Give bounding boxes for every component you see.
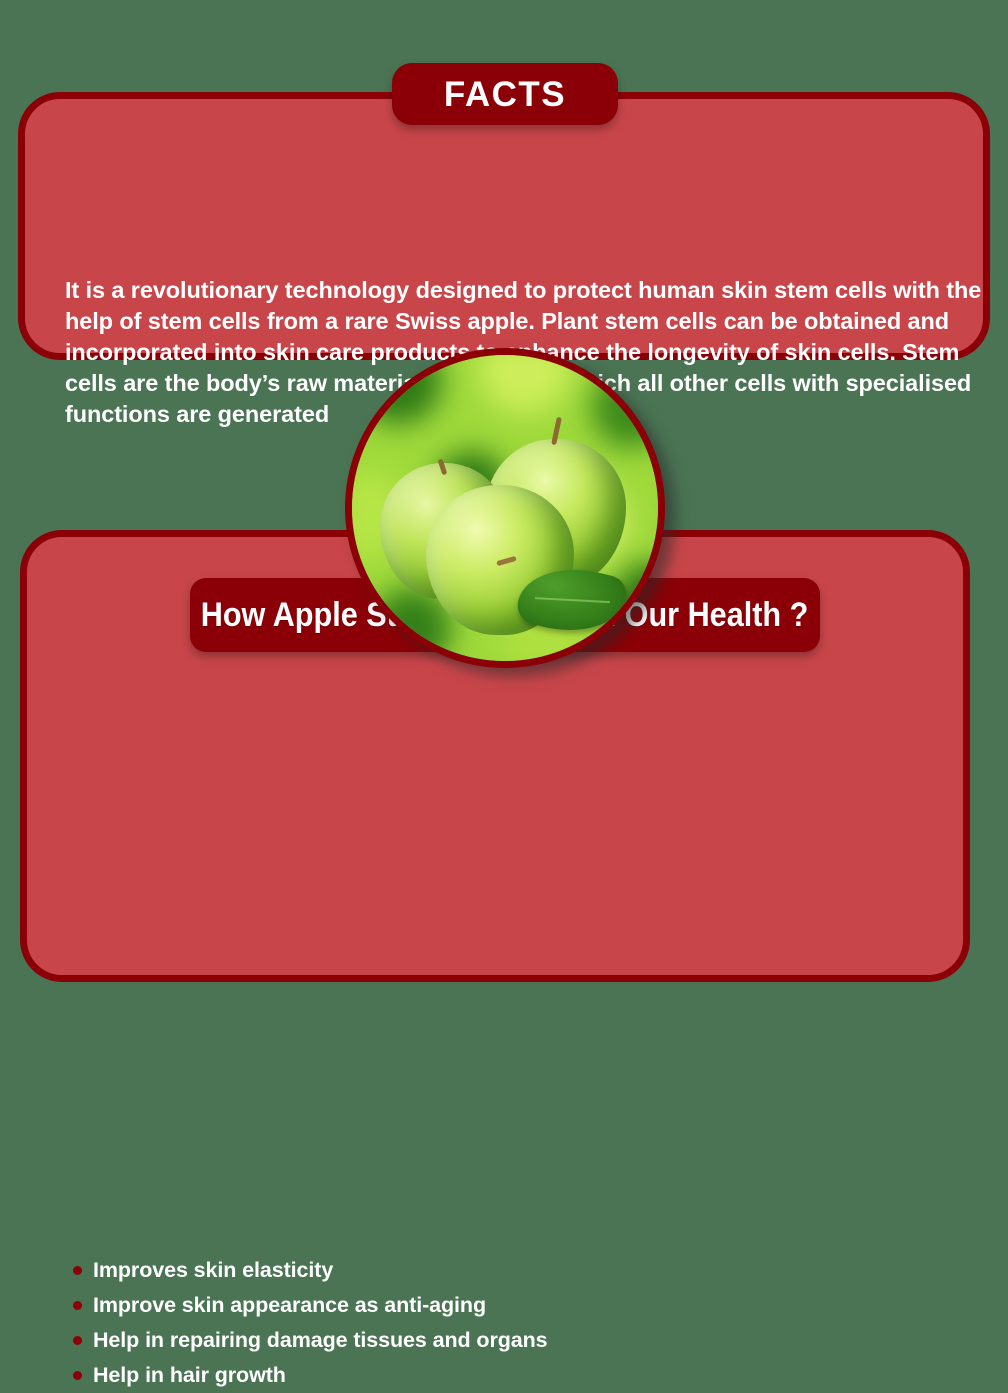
facts-card: It is a revolutionary technology designe… <box>18 92 990 360</box>
benefit-label: Help in hair growth <box>93 1363 286 1388</box>
list-item: Improve skin appearance as anti-aging <box>73 1288 773 1323</box>
facts-ribbon-label: FACTS <box>444 77 566 112</box>
list-item: Improves skin elasticity <box>73 1253 773 1288</box>
bullet-dot-icon <box>73 1266 82 1275</box>
benefit-label: Help in repairing damage tissues and org… <box>93 1328 548 1353</box>
benefits-list: Improves skin elasticity Improve skin ap… <box>73 1253 773 1393</box>
benefit-label: Improves skin elasticity <box>93 1258 333 1283</box>
infographic-canvas: It is a revolutionary technology designe… <box>0 0 1008 1024</box>
bullet-dot-icon <box>73 1301 82 1310</box>
benefit-label: Improve skin appearance as anti-aging <box>93 1293 486 1318</box>
bullet-dot-icon <box>73 1371 82 1380</box>
facts-ribbon-banner: FACTS <box>392 63 618 125</box>
apple-photo-medallion <box>345 348 665 668</box>
list-item: Help in hair growth <box>73 1358 773 1393</box>
bullet-dot-icon <box>73 1336 82 1345</box>
list-item: Help in repairing damage tissues and org… <box>73 1323 773 1358</box>
green-apples-photo <box>352 355 658 661</box>
